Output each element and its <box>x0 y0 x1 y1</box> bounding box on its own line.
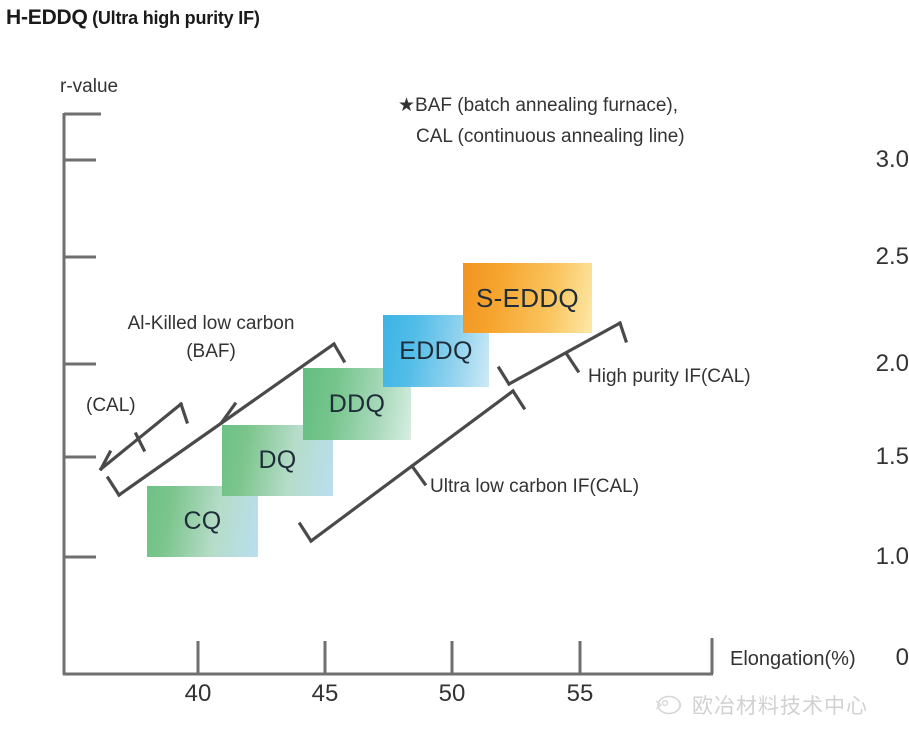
x-tick-label-55: 55 <box>550 680 610 708</box>
annotation-al-killed-line2: (BAF) <box>96 338 326 366</box>
page-title: H-EDDQ (Ultra high purity IF) <box>6 6 260 30</box>
annotation-ultra-low: Ultra low carbon IF(CAL) <box>430 473 639 501</box>
data-box-cq-label: CQ <box>183 507 221 536</box>
footnote-line-cal: CAL (continuous annealing line) <box>398 121 685 152</box>
chart-canvas: H-EDDQ (Ultra high purity IF) ★BAF (batc… <box>0 0 909 741</box>
title-main: H-EDDQ <box>6 6 88 29</box>
y-axis-label: r-value <box>60 76 118 98</box>
watermark-logo-icon <box>654 692 684 718</box>
y-tick-label-0: 0 <box>851 644 909 672</box>
y-tick-label-1-0: 1.0 <box>851 543 909 571</box>
data-box-dq-label: DQ <box>258 446 296 475</box>
data-box-ddq-label: DDQ <box>329 390 385 419</box>
annotation-cal: (CAL) <box>86 392 136 420</box>
x-tick-label-40: 40 <box>168 680 228 708</box>
data-box-s-eddq[interactable]: S-EDDQ <box>463 263 592 333</box>
annotation-al-killed: Al-Killed low carbon (BAF) <box>96 310 326 366</box>
data-box-s-eddq-label: S-EDDQ <box>476 283 579 314</box>
data-box-eddq-label: EDDQ <box>399 337 472 366</box>
footnote-legend: ★BAF (batch annealing furnace), CAL (con… <box>398 90 685 152</box>
y-tick-label-2-5: 2.5 <box>851 243 909 271</box>
footnote-line-baf: ★BAF (batch annealing furnace), <box>398 95 678 116</box>
y-tick-label-3-0: 3.0 <box>851 146 909 174</box>
data-box-cq[interactable]: CQ <box>147 486 258 557</box>
x-axis-label: Elongation(%) <box>730 648 856 671</box>
annotation-al-killed-line1: Al-Killed low carbon <box>96 310 326 338</box>
y-tick-label-2-0: 2.0 <box>851 350 909 378</box>
watermark: 欧冶材料技术中心 <box>654 690 868 720</box>
annotation-high-purity: High purity IF(CAL) <box>588 363 751 391</box>
x-tick-label-45: 45 <box>295 680 355 708</box>
watermark-text: 欧冶材料技术中心 <box>692 690 868 720</box>
x-tick-label-50: 50 <box>422 680 482 708</box>
y-tick-label-1-5: 1.5 <box>851 443 909 471</box>
title-subtitle: (Ultra high purity IF) <box>92 8 260 28</box>
